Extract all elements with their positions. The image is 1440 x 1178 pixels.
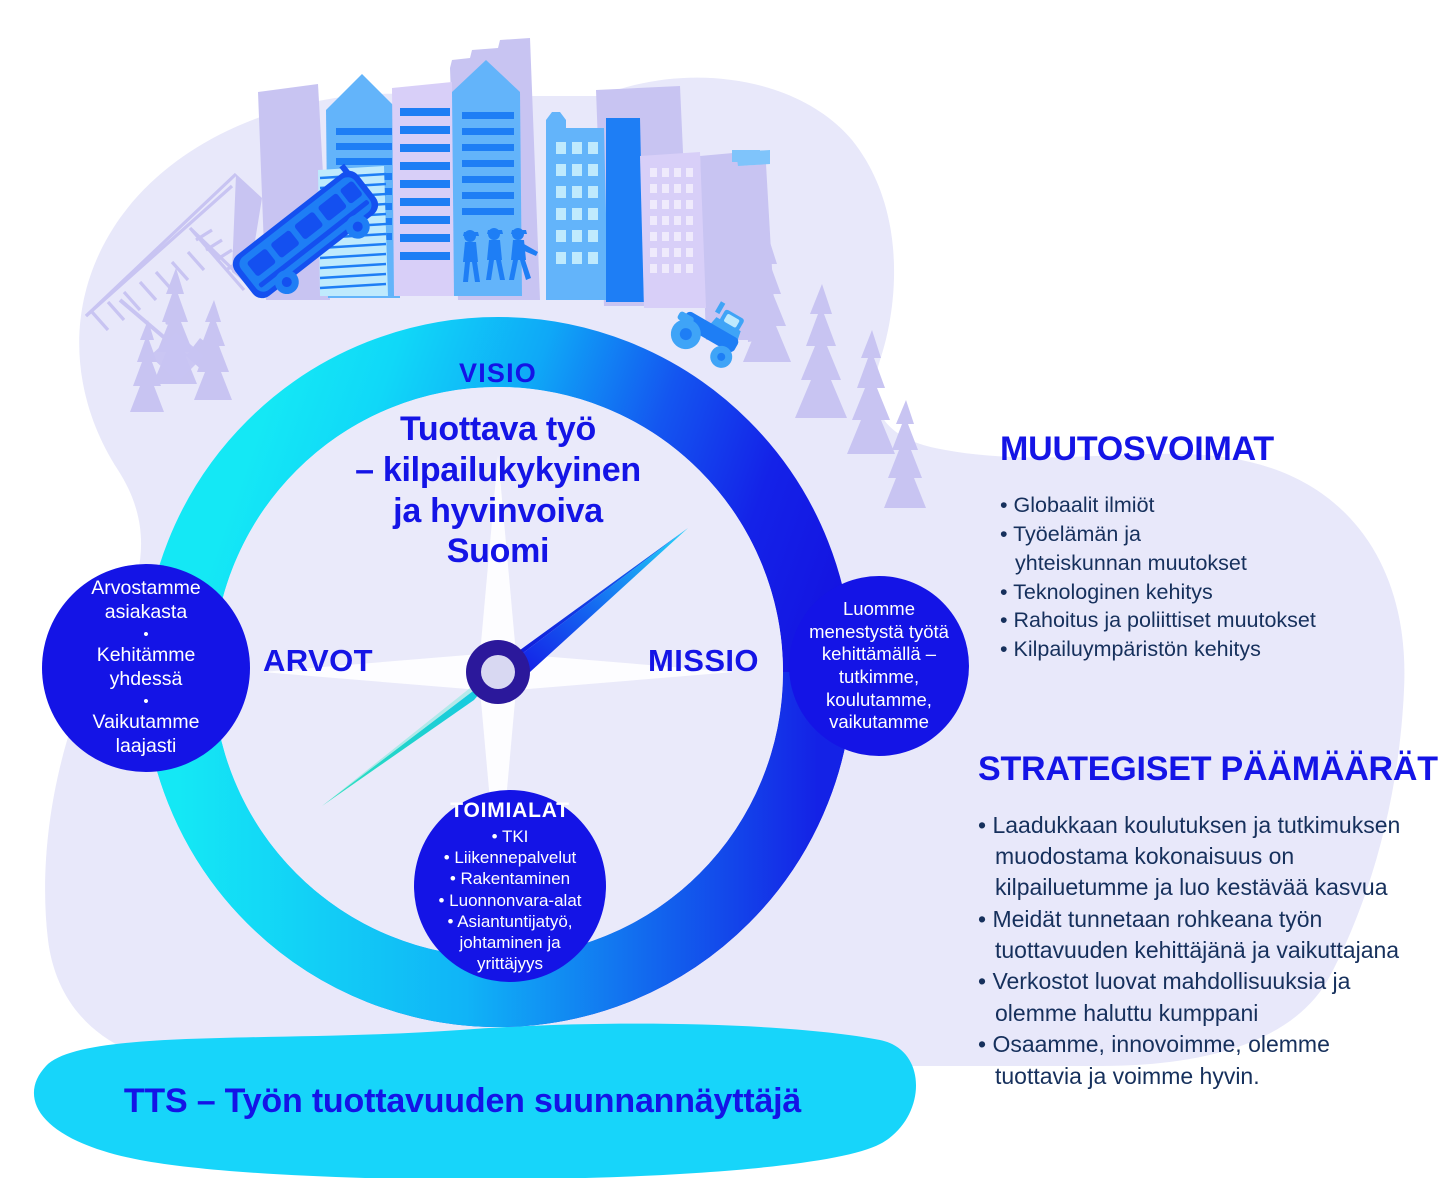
- toimialat-item: • Asiantuntijatyö,: [447, 911, 572, 932]
- toimialat-item: • Luonnonvara-alat: [439, 890, 582, 911]
- list-item: • Rahoitus ja poliittiset muutokset: [1000, 607, 1420, 635]
- muutosvoimat-panel: MUUTOSVOIMAT • Globaalit ilmiöt • Työelä…: [1000, 432, 1420, 665]
- missio-line: tutkimme,: [839, 666, 919, 689]
- list-item: • Globaalit ilmiöt: [1000, 492, 1420, 520]
- arvot-line: laajasti: [116, 735, 177, 759]
- infographic-canvas: VISIO Tuottava työ – kilpailukykyinen ja…: [0, 0, 1440, 1178]
- visio-title-line: ja hyvinvoiva: [288, 491, 708, 532]
- list-item: muodostama kokonaisuus on: [978, 841, 1428, 871]
- missio-line: vaikutamme: [829, 711, 929, 734]
- list-item: • Verkostot luovat mahdollisuuksia ja: [978, 966, 1428, 996]
- missio-line: koulutamme,: [826, 689, 932, 712]
- arvot-separator-dot: •: [143, 627, 148, 642]
- strategiset-panel: STRATEGISET PÄÄMÄÄRÄT • Laadukkaan koulu…: [978, 752, 1428, 1092]
- toimialat-heading: TOIMIALAT: [450, 798, 570, 824]
- arvot-line: asiakasta: [105, 601, 187, 625]
- visio-title: Tuottava työ – kilpailukykyinen ja hyvin…: [288, 409, 708, 572]
- toimialat-item: • Liikennepalvelut: [444, 847, 577, 868]
- visio-label: VISIO: [288, 358, 708, 389]
- arvot-separator-dot: •: [143, 694, 148, 709]
- strategiset-list: • Laadukkaan koulutuksen ja tutkimuksen …: [978, 810, 1428, 1091]
- arvot-line: yhdessä: [110, 668, 183, 692]
- visio-title-line: Tuottava työ: [288, 409, 708, 450]
- strategiset-heading: STRATEGISET PÄÄMÄÄRÄT: [978, 752, 1428, 788]
- compass-hub-center: [481, 655, 515, 689]
- toimialat-item: johtaminen ja: [459, 932, 560, 953]
- banner-text: TTS – Työn tuottavuuden suunnannäyttäjä: [0, 1082, 925, 1121]
- muutosvoimat-heading: MUUTOSVOIMAT: [1000, 432, 1420, 468]
- list-item: • Laadukkaan koulutuksen ja tutkimuksen: [978, 810, 1428, 840]
- toimialat-item: • Rakentaminen: [450, 868, 570, 889]
- missio-line: Luomme: [843, 598, 915, 621]
- list-item: • Teknologinen kehitys: [1000, 579, 1420, 607]
- missio-line: kehittämällä –: [822, 643, 936, 666]
- toimialat-bubble-text: TOIMIALAT • TKI • Liikennepalvelut • Rak…: [416, 800, 604, 972]
- list-item: • Osaamme, innovoimme, olemme: [978, 1029, 1428, 1059]
- list-item: kilpailuetumme ja luo kestävää kasvua: [978, 872, 1428, 902]
- muutosvoimat-list: • Globaalit ilmiöt • Työelämän ja yhteis…: [1000, 492, 1420, 665]
- missio-bubble-text: Luomme menestystä työtä kehittämällä – t…: [793, 586, 965, 746]
- arvot-line: Kehitämme: [97, 644, 196, 668]
- arvot-line: Vaikutamme: [93, 711, 200, 735]
- visio-block: VISIO Tuottava työ – kilpailukykyinen ja…: [288, 358, 708, 572]
- list-item: tuottavia ja voimme hyvin.: [978, 1061, 1428, 1091]
- list-item: • Työelämän ja: [1000, 521, 1420, 549]
- toimialat-item: yrittäjyys: [477, 953, 543, 974]
- arvot-line: Arvostamme: [91, 577, 200, 601]
- list-item: tuottavuuden kehittäjänä ja vaikuttajana: [978, 935, 1428, 965]
- visio-title-line: Suomi: [288, 531, 708, 572]
- missio-line: menestystä työtä: [809, 621, 949, 644]
- toimialat-item: • TKI: [492, 826, 529, 847]
- missio-label: MISSIO: [648, 643, 759, 679]
- list-item: yhteiskunnan muutokset: [1000, 550, 1420, 578]
- arvot-label: ARVOT: [263, 643, 373, 679]
- visio-title-line: – kilpailukykyinen: [288, 450, 708, 491]
- list-item: • Meidät tunnetaan rohkeana työn: [978, 904, 1428, 934]
- list-item: olemme haluttu kumppani: [978, 998, 1428, 1028]
- arvot-bubble-text: Arvostamme asiakasta • Kehitämme yhdessä…: [42, 568, 250, 768]
- list-item: • Kilpailuympäristön kehitys: [1000, 636, 1420, 664]
